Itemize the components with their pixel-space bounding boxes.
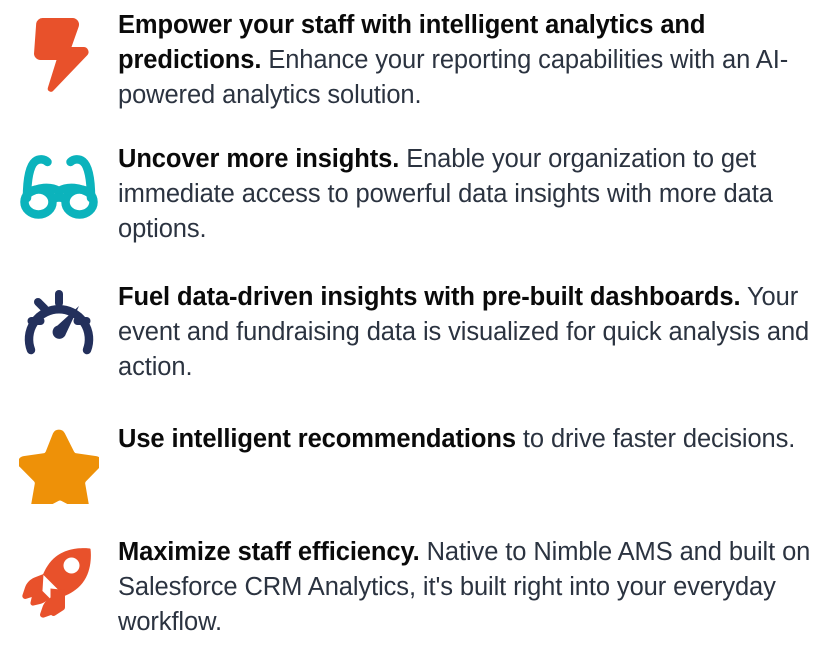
feature-body: to drive faster decisions. — [516, 425, 795, 453]
feature-item: Fuel data-driven insights with pre-built… — [0, 280, 822, 385]
feature-text-cell: Maximize staff efficiency. Native to Nim… — [118, 535, 822, 640]
feature-text-cell: Uncover more insights. Enable your organ… — [118, 142, 822, 247]
feature-lead: Fuel data-driven insights with pre-built… — [118, 283, 740, 311]
feature-paragraph: Maximize staff efficiency. Native to Nim… — [118, 535, 818, 640]
feature-paragraph: Empower your staff with intelligent anal… — [118, 8, 818, 113]
feature-item: Uncover more insights. Enable your organ… — [0, 142, 822, 247]
feature-text-cell: Use intelligent recommendations to drive… — [118, 422, 822, 457]
feature-text-cell: Fuel data-driven insights with pre-built… — [118, 280, 822, 385]
feature-text-cell: Empower your staff with intelligent anal… — [118, 8, 822, 113]
feature-paragraph: Use intelligent recommendations to drive… — [118, 422, 818, 457]
lightning-bolt-icon — [0, 8, 118, 94]
feature-paragraph: Fuel data-driven insights with pre-built… — [118, 280, 818, 385]
feature-lead: Uncover more insights. — [118, 145, 399, 173]
star-icon — [0, 422, 118, 504]
feature-item: Use intelligent recommendations to drive… — [0, 422, 822, 504]
feature-item: Empower your staff with intelligent anal… — [0, 8, 822, 113]
feature-list: Empower your staff with intelligent anal… — [0, 0, 822, 648]
feature-lead: Use intelligent recommendations — [118, 425, 516, 453]
gauge-icon — [0, 280, 118, 358]
feature-paragraph: Uncover more insights. Enable your organ… — [118, 142, 818, 247]
rocket-icon — [0, 535, 118, 619]
feature-lead: Maximize staff efficiency. — [118, 538, 420, 566]
feature-item: Maximize staff efficiency. Native to Nim… — [0, 535, 822, 640]
glasses-icon — [0, 142, 118, 220]
